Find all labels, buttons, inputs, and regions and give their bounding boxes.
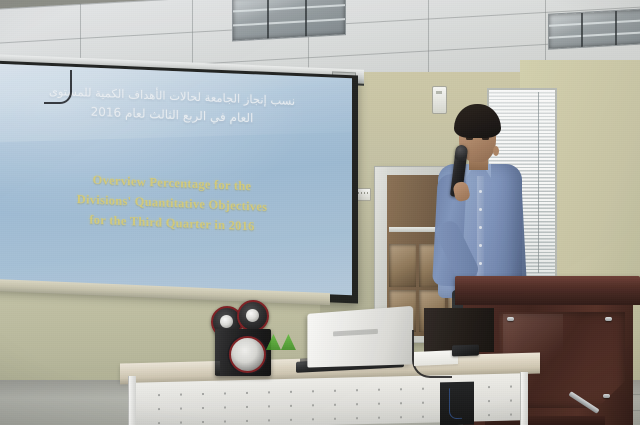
external-hard-drive[interactable] <box>452 345 479 357</box>
speaker-cone-icon <box>229 336 266 373</box>
shirt-button <box>479 190 482 193</box>
podium-fastener <box>605 317 612 321</box>
speaker-control-panel[interactable] <box>215 361 220 375</box>
shirt-button <box>479 262 482 265</box>
multimedia-speaker-system <box>211 300 275 376</box>
sensor-led-icon <box>436 91 442 94</box>
cubby-cell <box>389 244 416 287</box>
speaker-dome-icon <box>246 309 259 322</box>
laptop-brand-logo <box>333 329 378 337</box>
ceiling-light-fixture-right <box>548 8 640 50</box>
laptop-lid <box>307 306 413 368</box>
shirt-button <box>479 226 482 229</box>
satellite-speaker-right <box>237 300 269 332</box>
speaker-cable <box>44 70 72 104</box>
shirt-button <box>479 208 482 211</box>
podium-fastener <box>603 394 610 398</box>
table-leg <box>128 376 136 425</box>
blue-cable <box>449 388 462 419</box>
subwoofer-speaker <box>215 329 271 376</box>
ceiling-light-fixture-center <box>232 0 346 41</box>
presenter-hair <box>454 104 501 138</box>
speaker-dome-icon <box>220 315 233 328</box>
presentation-room-photo: نسب إنجاز الجامعة لحالات الأهداف الكمية … <box>0 0 640 425</box>
laptop-open[interactable] <box>296 310 418 374</box>
podium-top-face <box>455 294 640 305</box>
presenter-ear <box>493 146 499 156</box>
slide-english-title: Overview Percentage for the Divisions' Q… <box>14 166 331 239</box>
outlet-grill-icon <box>358 192 368 194</box>
table-leg <box>520 372 528 425</box>
podium-fastener <box>507 317 514 321</box>
microphone-head-icon <box>454 144 468 160</box>
shirt-button <box>479 244 482 247</box>
table-cable-recess <box>440 382 474 425</box>
